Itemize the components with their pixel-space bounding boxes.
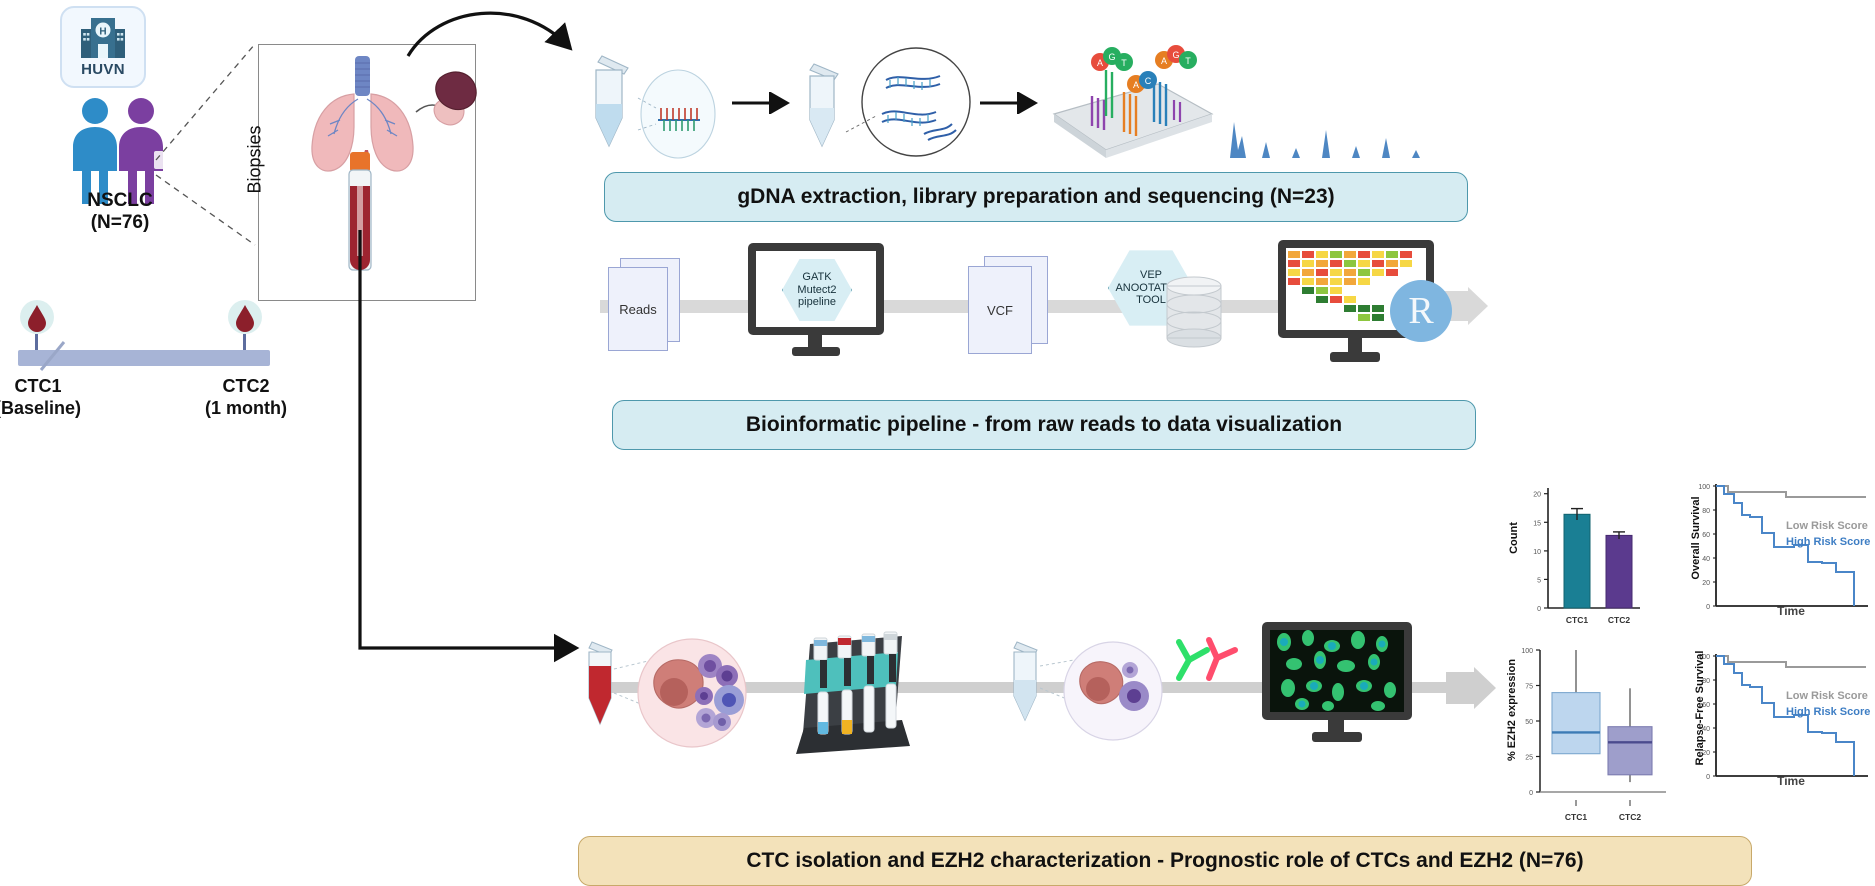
pipeline-banner: Bioinformatic pipeline - from raw reads … [612, 400, 1476, 450]
ctc2-caption: CTC2 (1 month) [196, 376, 296, 419]
ctc-cells-zoom-icon [632, 634, 752, 752]
svg-text:15: 15 [1533, 520, 1541, 527]
gatk-line-2: Mutect2 [797, 284, 836, 296]
svg-text:CTC1: CTC1 [1565, 812, 1587, 822]
biopsies-label: Biopsies [245, 105, 266, 215]
svg-text:0: 0 [1529, 790, 1533, 797]
os-chart-ylabel: Overall Survival [1690, 488, 1702, 588]
vep-line-1: VEP [1140, 269, 1162, 281]
overall-survival-chart: Overall Survival 02040 6080100 Low Risk … [1676, 478, 1872, 638]
timeline-break-icon [36, 340, 74, 374]
tube-rack-icon [790, 628, 918, 762]
blood-drop-icon [27, 304, 47, 332]
svg-text:25: 25 [1525, 755, 1533, 762]
database-cylinder-icon [1162, 276, 1226, 350]
count-chart-ylabel: Count [1508, 508, 1520, 568]
rfs-chart-xlabel: Time [1716, 774, 1866, 788]
svg-text:A: A [1133, 80, 1139, 90]
svg-text:G: G [1108, 52, 1115, 62]
sequencing-step-arrow-2 [978, 92, 1046, 114]
svg-text:0: 0 [1706, 604, 1710, 611]
workflow-figure: H HUVN NSCLC (N=76) [0, 0, 1875, 886]
ezh2-chart-ylabel: % EZH2 expression [1506, 650, 1518, 770]
svg-text:CTC1: CTC1 [1566, 615, 1588, 625]
fluorescence-monitor-icon [1262, 622, 1412, 742]
gatk-monitor: GATK Mutect2 pipeline [748, 243, 884, 361]
svg-text:T: T [1121, 58, 1127, 68]
biopsy-to-ctc-arrow [355, 230, 605, 690]
gatk-line-1: GATK [802, 271, 831, 283]
sequencing-banner: gDNA extraction, library preparation and… [604, 172, 1468, 222]
svg-text:CTC2: CTC2 [1608, 615, 1630, 625]
r-logo: R [1390, 280, 1452, 342]
rfs-chart-ylabel: Relapse-Free Survival [1694, 638, 1706, 778]
svg-text:100: 100 [1521, 648, 1533, 655]
svg-text:20: 20 [1533, 492, 1541, 499]
antibody-icon [1165, 628, 1245, 692]
svg-text:5: 5 [1537, 577, 1541, 584]
svg-text:C: C [1145, 76, 1152, 86]
ctc-count-bar-chart: Count 05 101520 [1508, 480, 1644, 638]
sequencing-trace-icon [1222, 102, 1452, 164]
svg-text:T: T [1185, 56, 1191, 66]
os-legend-high-risk: High Risk Score [1786, 536, 1870, 548]
svg-text:20: 20 [1702, 580, 1710, 587]
svg-text:H: H [99, 26, 106, 37]
rfs-legend-high-risk: High Risk Score [1786, 706, 1870, 718]
disease-name: NSCLC [87, 190, 152, 211]
svg-text:G: G [1172, 50, 1179, 60]
svg-text:80: 80 [1702, 508, 1710, 515]
svg-text:A: A [1161, 56, 1167, 66]
relapse-free-survival-chart: Relapse-Free Survival 02040 6080100 Low … [1676, 648, 1872, 818]
r-logo-label: R [1408, 289, 1433, 333]
svg-text:CTC2: CTC2 [1619, 812, 1641, 822]
fluorescence-cells-graphic [1270, 630, 1404, 712]
huvn-badge: H HUVN [60, 6, 146, 88]
ctc2-sublabel: (1 month) [205, 398, 287, 418]
svg-text:A: A [1097, 58, 1103, 68]
reads-label: Reads [608, 267, 668, 351]
flowcell-sequencing-icon: A G T A C A G T [1040, 40, 1220, 162]
ctc1-caption: CTC1 (Baseline) [0, 376, 88, 419]
blood-drop-icon [235, 304, 255, 332]
reads-documents: Reads [608, 258, 684, 354]
vcf-documents: VCF [968, 256, 1054, 356]
svg-text:0: 0 [1706, 774, 1710, 781]
ctc-banner: CTC isolation and EZH2 characterization … [578, 836, 1752, 886]
os-legend-low-risk: Low Risk Score [1786, 520, 1868, 532]
cohort-n: (N=76) [91, 212, 150, 233]
svg-text:75: 75 [1525, 684, 1533, 691]
ctc1-label: CTC1 [14, 376, 61, 396]
sequencing-row-art: A G T A C A G T [570, 30, 1450, 160]
box-ctc1 [1552, 650, 1600, 754]
patient-male-icon [73, 98, 117, 204]
hospital-icon: H [80, 17, 126, 59]
svg-text:40: 40 [1702, 556, 1710, 563]
rfs-legend-low-risk: Low Risk Score [1786, 690, 1868, 702]
ctc2-label: CTC2 [222, 376, 269, 396]
dna-fragments-zoom-icon [840, 46, 980, 164]
ctc1-sublabel: (Baseline) [0, 398, 81, 418]
isolated-ctc-zoom-icon [1058, 636, 1168, 746]
os-chart-xlabel: Time [1716, 604, 1866, 618]
svg-text:0: 0 [1537, 606, 1541, 613]
ctc-timeline: CTC1 (Baseline) CTC2 (1 month) [14, 300, 304, 410]
primer-zoom-icon [622, 68, 718, 160]
gatk-line-3: pipeline [798, 296, 836, 308]
vcf-label: VCF [968, 266, 1032, 354]
count-chart-svg: 05 101520 CTC1 CTC2 [1508, 480, 1644, 638]
sequencing-step-arrow [730, 92, 798, 114]
huvn-label: HUVN [81, 61, 125, 78]
ezh2-expression-box-chart: % EZH2 expression 025 5075100 [1490, 640, 1670, 830]
